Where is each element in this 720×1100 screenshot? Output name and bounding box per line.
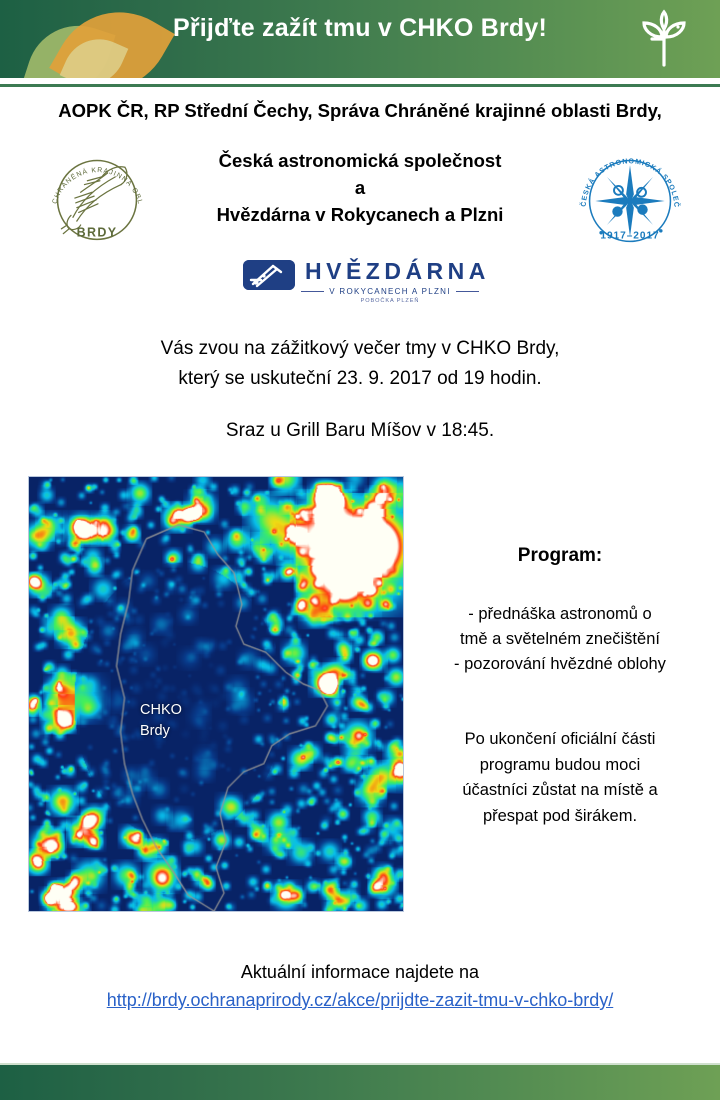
hvezdarna-logo: HVĚZDÁRNA V ROKYCANECH A PLZNI POBOČKA P… — [243, 258, 479, 306]
light-pollution-map — [28, 476, 404, 912]
organizer-aopk-line: AOPK ČR, RP Střední Čechy, Správa Chráně… — [0, 100, 720, 122]
program-items: - přednáška astronomů o tmě a světelném … — [414, 602, 706, 676]
program-note-line-2: programu budou moci — [414, 753, 706, 779]
hvezdarna-branch: POBOČKA PLZEŇ — [301, 298, 479, 304]
observatory-dome-icon — [243, 260, 295, 290]
organizer-cas-line: Česká astronomická společnost — [180, 148, 540, 175]
cas-logo-years: 1917–2017 — [600, 231, 659, 242]
program-item-1: - přednáška astronomů o — [414, 602, 706, 627]
footer-band — [0, 1065, 720, 1100]
invitation-block: Vás zvou na zážitkový večer tmy v CHKO B… — [60, 334, 660, 395]
program-note-line-4: přespat pod širákem. — [414, 804, 706, 830]
invitation-line-2: který se uskuteční 23. 9. 2017 od 19 hod… — [60, 364, 660, 394]
light-pollution-map-canvas — [29, 477, 403, 911]
hvezdarna-wordmark: HVĚZDÁRNA — [305, 258, 490, 285]
invitation-meeting-point: Sraz u Grill Baru Míšov v 18:45. — [60, 420, 660, 442]
program-note: Po ukončení oficiální části programu bud… — [414, 727, 706, 829]
organizer-block: Česká astronomická společnost a Hvězdárn… — [180, 148, 540, 228]
rule-left — [301, 291, 324, 292]
rule-right — [456, 291, 479, 292]
program-item-3: - pozorování hvězdné oblohy — [414, 652, 706, 677]
hvezdarna-sub-row: V ROKYCANECH A PLZNI — [301, 287, 479, 296]
organizer-conjunction: a — [180, 175, 540, 202]
chko-logo-name: BRDY — [77, 226, 118, 240]
poster-root: Přijďte zažít tmu v CHKO Brdy! AOPK ČR, … — [0, 0, 720, 1100]
header-divider — [0, 84, 720, 87]
event-url-link[interactable]: http://brdy.ochranaprirody.cz/akce/prijd… — [0, 990, 720, 1011]
more-info-label: Aktuální informace najdete na — [0, 962, 720, 983]
invitation-line-1: Vás zvou na zážitkový večer tmy v CHKO B… — [60, 334, 660, 364]
page-title: Přijďte zažít tmu v CHKO Brdy! — [0, 14, 720, 43]
hvezdarna-sub: V ROKYCANECH A PLZNI — [329, 287, 451, 296]
cas-logo-icon: ČESKÁ ASTRONOMICKÁ SPOLEČNOST 1917–2017 — [576, 148, 684, 252]
header-band: Přijďte zažít tmu v CHKO Brdy! — [0, 0, 720, 78]
organizer-hvezdarna-line: Hvězdárna v Rokycanech a Plzni — [180, 202, 540, 229]
program-note-line-1: Po ukončení oficiální části — [414, 727, 706, 753]
program-note-line-3: účastníci zůstat na místě a — [414, 778, 706, 804]
program-heading: Program: — [420, 545, 700, 567]
sprout-leaf-icon — [632, 7, 696, 71]
program-item-2: tmě a světelném znečištění — [414, 627, 706, 652]
chko-brdy-logo-icon: CHRÁNĚNÁ KRAJINNÁ OBLAST BRDY — [44, 148, 150, 250]
